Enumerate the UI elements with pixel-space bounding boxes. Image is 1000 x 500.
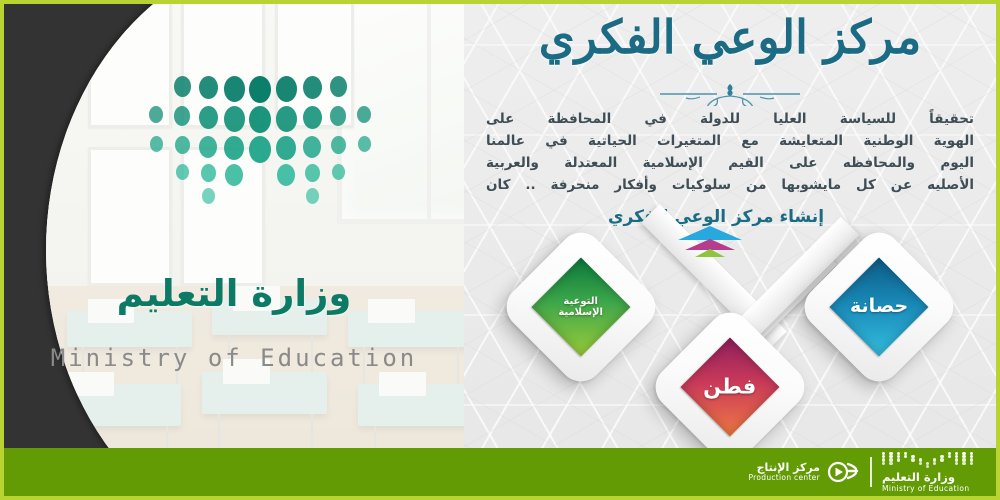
ministry-title-english: Ministry of Education xyxy=(4,344,464,372)
program-cards-cluster: التوعية الإسلامية حصانة فطن xyxy=(464,230,996,446)
ministry-of-education-palm-dots-logo xyxy=(172,76,362,246)
card-fatin[interactable]: فطن xyxy=(647,304,814,471)
footer-bar: مركز الإنتاج Production center وزارة الت xyxy=(4,448,996,496)
paragraph-line: تحقيقاً للسياسة العليا للدولة في المحافظ… xyxy=(486,108,974,130)
left-panel: وزارة التعليم Ministry of Education xyxy=(4,4,464,496)
production-center-english: Production center xyxy=(748,474,820,482)
ministry-dots-logo-icon xyxy=(882,452,978,469)
card-label: حصانة xyxy=(850,297,908,317)
right-panel: مركز الوعي الفكري تحقيقاً للسياسة العليا… xyxy=(464,4,996,496)
play-hand-icon xyxy=(826,459,860,485)
card-label: التوعية الإسلامية xyxy=(546,297,616,318)
poster-inner: وزارة التعليم Ministry of Education مركز… xyxy=(4,4,996,496)
paragraph-line: الأصليه عن كل مايشوبها من سلوكيات وأفكار… xyxy=(486,174,974,196)
ministry-footer-logo: وزارة التعليم Ministry of Education xyxy=(882,452,978,493)
card-islamic-awareness[interactable]: التوعية الإسلامية xyxy=(498,224,665,391)
card-chip-hasana: حصانة xyxy=(830,258,929,357)
ministry-footer-arabic: وزارة التعليم xyxy=(882,470,955,484)
page-title: مركز الوعي الفكري xyxy=(464,10,996,64)
upward-arrows-group xyxy=(678,226,742,266)
paragraph-highlight: إنشاء مركز الوعي الفكري xyxy=(464,207,968,227)
footer-logos: مركز الإنتاج Production center وزارة الت xyxy=(748,448,978,496)
footer-divider xyxy=(870,457,872,487)
poster: وزارة التعليم Ministry of Education مركز… xyxy=(0,0,1000,500)
ministry-title-arabic: وزارة التعليم xyxy=(4,272,464,315)
card-chip-fatin: فطن xyxy=(681,338,780,437)
production-center-text: مركز الإنتاج Production center xyxy=(748,462,820,481)
card-label: فطن xyxy=(703,376,756,398)
chevron-arrow-green xyxy=(695,249,725,257)
paragraph-line: اليوم والمحافظه على القيم الإسلامية المع… xyxy=(486,152,974,174)
card-chip-islamic-awareness: التوعية الإسلامية xyxy=(532,258,631,357)
body-paragraph: تحقيقاً للسياسة العليا للدولة في المحافظ… xyxy=(486,108,974,196)
production-center-logo: مركز الإنتاج Production center xyxy=(748,459,860,485)
ministry-footer-english: Ministry of Education xyxy=(882,484,970,493)
decorative-flourish-divider-icon xyxy=(655,80,805,106)
chevron-arrow-blue xyxy=(678,226,742,240)
paragraph-line: الهوية الوطنية المتعايشة مع المتغيرات ال… xyxy=(486,130,974,152)
